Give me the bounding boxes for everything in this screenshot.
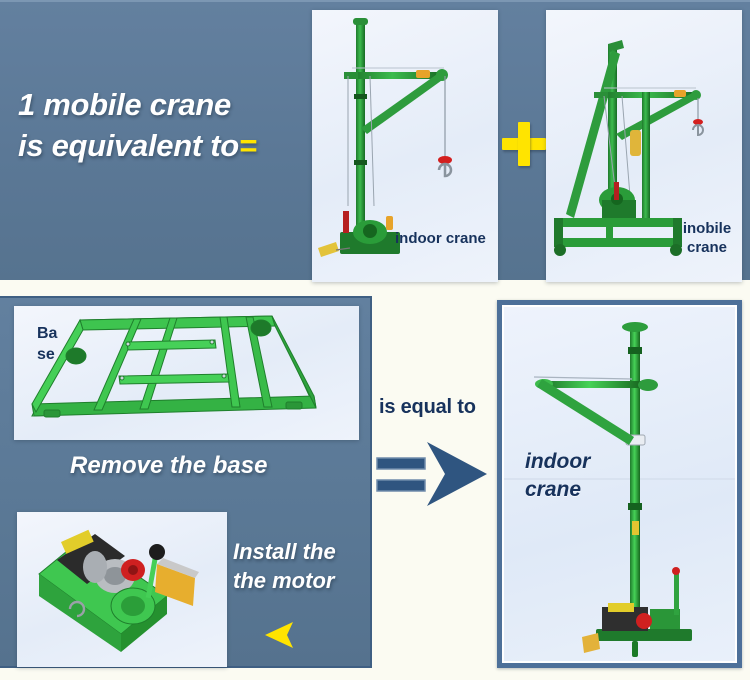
equals-icon: = (239, 128, 257, 163)
arrow-left-icon (263, 620, 305, 650)
caption-base-label: Ba se (37, 324, 71, 366)
base-label-line-1: Ba (37, 324, 71, 345)
remove-the-base-label: Remove the base (70, 452, 267, 480)
indoor-caption-line-1: indoor (525, 448, 635, 476)
arrow-right-icon (375, 438, 491, 510)
indoor-caption-line-2: crane (525, 476, 635, 504)
top-banner-panel: 1 mobile crane is equivalent to= (0, 0, 750, 280)
headline-line-2-wrap: is equivalent to= (18, 125, 318, 166)
caption-indoor-crane-top: indoor crane (395, 230, 486, 249)
photo-motor (17, 512, 227, 667)
install-the-motor-label: Install the the motor (233, 538, 373, 595)
caption-mobile-line-2: crane (672, 239, 742, 258)
photo-card-motor[interactable] (17, 512, 227, 667)
headline-line-2: is equivalent to (18, 128, 239, 163)
base-label-line-2: se (37, 345, 71, 366)
install-line-2: the motor (233, 567, 373, 596)
is-equal-to-label: is equal to (379, 396, 476, 419)
infographic-page: 1 mobile crane is equivalent to= (0, 0, 750, 680)
caption-indoor-crane-full: indoor crane (525, 448, 635, 505)
plus-icon (500, 120, 548, 168)
install-line-1: Install the (233, 538, 373, 567)
caption-mobile-crane-top: inobile crane (672, 220, 742, 258)
caption-mobile-line-1: inobile (672, 220, 742, 239)
headline-line-1: 1 mobile crane (18, 84, 318, 125)
headline-block: 1 mobile crane is equivalent to= (18, 84, 318, 166)
